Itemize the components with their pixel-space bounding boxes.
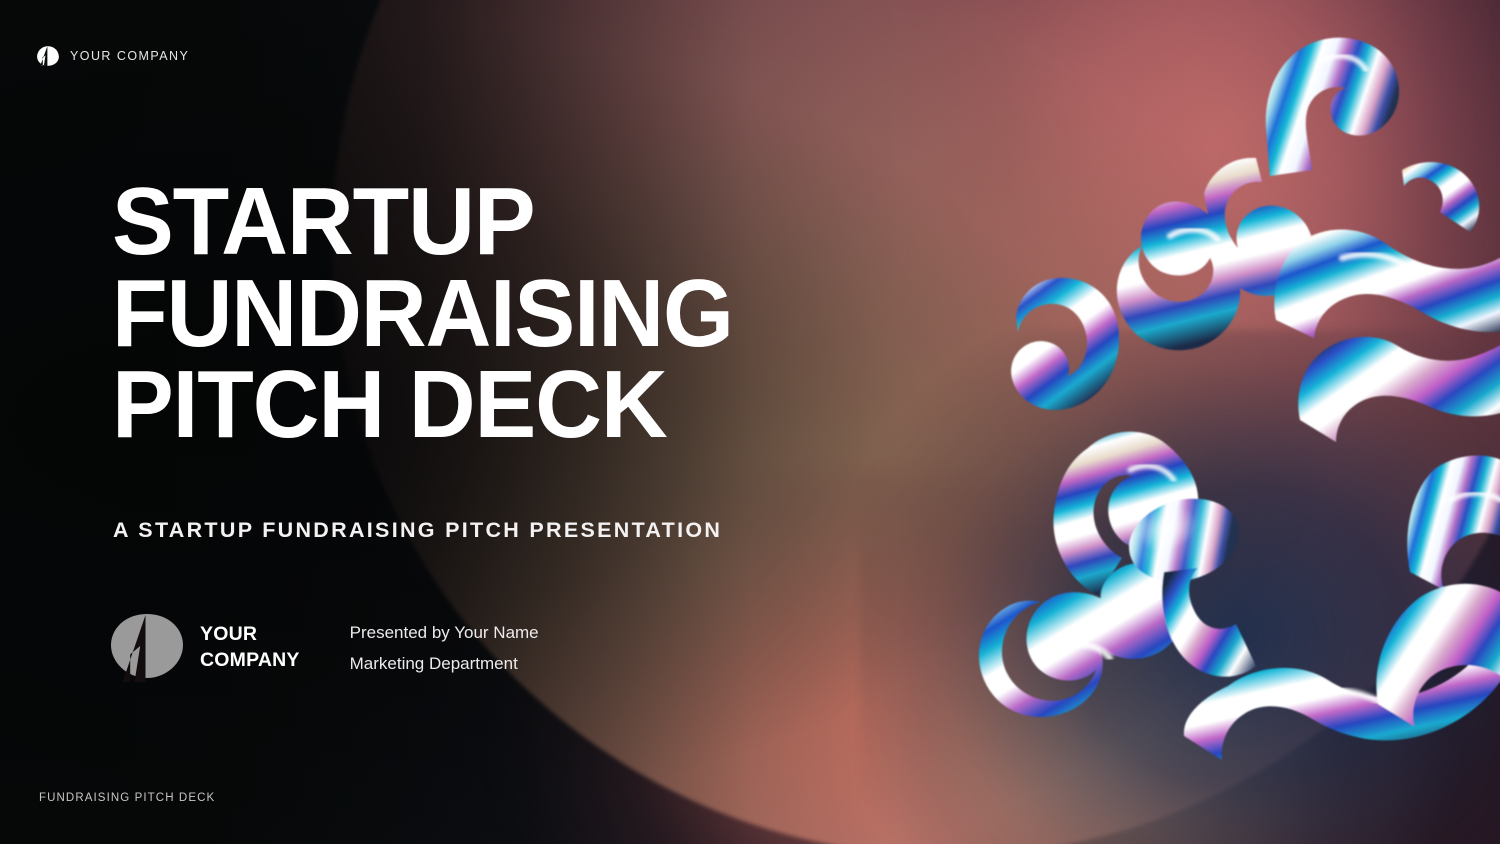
credit-block: YOUR COMPANY Presented by Your Name Mark… (108, 612, 539, 684)
page-title-line-3: PITCH DECK (112, 359, 743, 451)
presenter-info: Presented by Your Name Marketing Departm… (350, 617, 539, 680)
page-title: STARTUP FUNDRAISING PITCH DECK (112, 176, 765, 451)
page-title-line-2: FUNDRAISING (112, 268, 733, 360)
presenter-name: Presented by Your Name (350, 617, 539, 648)
brand-bar: YOUR COMPANY (36, 44, 189, 68)
page-title-line-1: STARTUP (112, 176, 743, 268)
company-name-line-1: YOUR (200, 622, 300, 648)
page-subtitle: A STARTUP FUNDRAISING PITCH PRESENTATION (113, 518, 722, 543)
company-name: YOUR COMPANY (200, 622, 300, 673)
slide-content: YOUR COMPANY STARTUP FUNDRAISING PITCH D… (0, 0, 1500, 844)
brand-bar-label: YOUR COMPANY (70, 49, 189, 63)
company-name-line-2: COMPANY (200, 648, 300, 674)
title-slide: YOUR COMPANY STARTUP FUNDRAISING PITCH D… (0, 0, 1500, 844)
presenter-department: Marketing Department (350, 648, 539, 679)
company-leaf-mark-icon (108, 612, 186, 684)
company-leaf-mark-icon (36, 44, 60, 68)
slide-footer: FUNDRAISING PITCH DECK (39, 792, 215, 804)
